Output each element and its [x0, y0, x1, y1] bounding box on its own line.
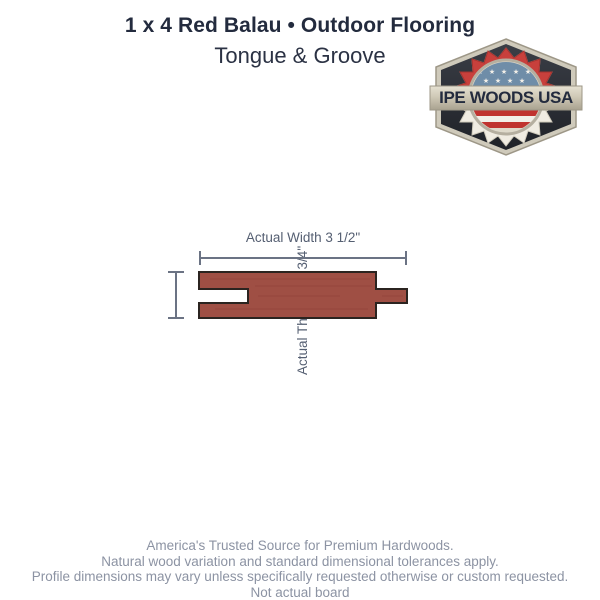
width-dimension-line — [200, 251, 406, 265]
footer-line-3: Profile dimensions may vary unless speci… — [0, 569, 600, 585]
logo-brand-text: IPE WOODS USA — [439, 88, 573, 107]
svg-text:★: ★ — [519, 77, 525, 85]
header: 1 x 4 Red Balau • Outdoor Flooring Tongu… — [0, 0, 600, 160]
svg-text:★: ★ — [483, 77, 489, 85]
footer-line-2: Natural wood variation and standard dime… — [0, 554, 600, 570]
logo-banner: IPE WOODS USA — [430, 86, 582, 110]
profile-diagram: Actual Width 3 1/2" Actual Thickness 3/4… — [0, 210, 600, 400]
footer-disclaimer: America's Trusted Source for Premium Har… — [0, 538, 600, 600]
footer-line-4: Not actual board — [0, 585, 600, 600]
svg-text:★: ★ — [489, 68, 495, 76]
svg-text:★: ★ — [513, 68, 519, 76]
svg-text:★: ★ — [507, 77, 513, 85]
thickness-dimension-line — [168, 272, 184, 318]
board-cross-section — [0, 210, 600, 400]
svg-text:★: ★ — [495, 77, 501, 85]
svg-text:★: ★ — [501, 68, 507, 76]
footer-line-1: America's Trusted Source for Premium Har… — [0, 538, 600, 554]
page-title: 1 x 4 Red Balau • Outdoor Flooring — [0, 14, 600, 38]
brand-logo: ★★★ ★★ ★★★ ★ ★★★ ★★ IPE WOODS USA — [428, 36, 584, 158]
